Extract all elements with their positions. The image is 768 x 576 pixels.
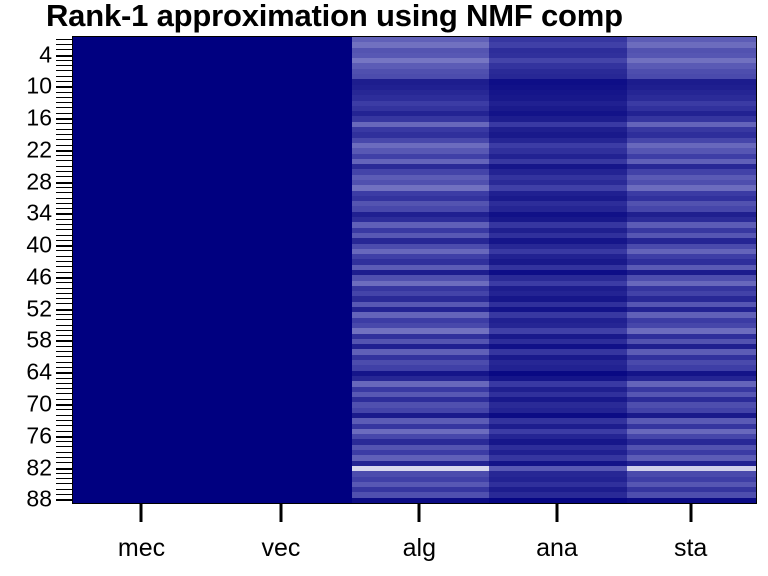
- y-axis-tick: [56, 335, 72, 336]
- chart-root: Rank-1 approximation using NMF comp 4101…: [0, 0, 768, 576]
- heatmap-cell: [352, 498, 489, 504]
- y-axis-label: 64: [26, 359, 52, 386]
- y-axis-tick: [56, 388, 72, 389]
- y-axis-label: 28: [26, 168, 52, 195]
- y-axis-tick: [56, 113, 72, 114]
- y-axis-tick: [56, 171, 72, 172]
- y-axis-label: 46: [26, 263, 52, 290]
- y-axis-tick: [56, 81, 72, 82]
- y-axis-tick: [56, 330, 72, 331]
- y-axis-tick: [56, 139, 72, 140]
- y-axis-tick: [56, 293, 72, 294]
- y-axis-tick: [56, 70, 72, 71]
- y-axis-tick: [56, 309, 72, 311]
- x-axis-tick: [689, 504, 692, 522]
- y-axis-tick: [56, 235, 72, 236]
- y-axis-labels: 41016222834404652586470768288: [0, 36, 54, 504]
- y-axis-tick: [56, 367, 72, 368]
- heatmap-cell: [212, 498, 352, 504]
- y-axis-tick: [56, 150, 72, 152]
- heatmap-plot-area: [72, 36, 757, 504]
- y-axis-tick: [56, 256, 72, 257]
- y-axis-tick: [56, 39, 72, 40]
- y-axis-tick: [56, 97, 72, 98]
- y-axis-label: 34: [26, 200, 52, 227]
- y-axis-tick: [56, 340, 72, 342]
- y-axis-tick: [56, 44, 72, 45]
- y-axis-tick: [56, 208, 72, 209]
- y-axis-tick: [56, 288, 72, 289]
- y-axis-label: 70: [26, 391, 52, 418]
- y-axis-tick: [56, 123, 72, 124]
- x-axis-label-ana: ana: [536, 534, 578, 563]
- y-axis-tick: [56, 277, 72, 279]
- y-axis-label: 22: [26, 136, 52, 163]
- y-axis-tick: [56, 102, 72, 103]
- y-axis-tick: [56, 468, 72, 470]
- heatmap-cell: [489, 498, 628, 504]
- y-axis-tick: [56, 245, 72, 247]
- y-axis-tick: [56, 420, 72, 421]
- y-axis-tick: [56, 160, 72, 161]
- y-axis-tick: [56, 272, 72, 273]
- y-axis-tick: [56, 213, 72, 215]
- y-axis-tick: [56, 261, 72, 262]
- y-axis-tick: [56, 192, 72, 193]
- y-axis-tick: [56, 325, 72, 326]
- y-axis-tick: [56, 92, 72, 93]
- y-axis-label: 4: [39, 41, 52, 68]
- x-axis-tick: [555, 504, 558, 522]
- heatmap-cell: [627, 498, 756, 504]
- y-axis-tick: [56, 436, 72, 438]
- y-axis-tick: [56, 229, 72, 230]
- y-axis-tick: [56, 393, 72, 394]
- y-axis-tick: [56, 198, 72, 199]
- y-axis-tick: [56, 187, 72, 188]
- y-axis-tick: [56, 446, 72, 447]
- y-axis-tick: [56, 404, 72, 406]
- y-axis-tick: [56, 346, 72, 347]
- y-axis-tick: [56, 362, 72, 363]
- y-axis-tick: [56, 457, 72, 458]
- y-axis-tick: [56, 166, 72, 167]
- y-axis-tick: [56, 415, 72, 416]
- y-axis-tick: [56, 314, 72, 315]
- y-axis-tick: [56, 65, 72, 66]
- y-axis-tick: [56, 441, 72, 442]
- y-axis-tick: [56, 483, 72, 484]
- y-axis-tick: [56, 55, 72, 57]
- y-axis-label: 58: [26, 327, 52, 354]
- y-axis-tick: [56, 176, 72, 177]
- y-axis-tick: [56, 351, 72, 352]
- y-axis-tick: [56, 462, 72, 463]
- y-axis-tick: [56, 494, 72, 495]
- x-axis-tick: [279, 504, 282, 522]
- y-axis-tick: [56, 203, 72, 204]
- y-axis-tick: [56, 298, 72, 299]
- y-axis-tick: [56, 49, 72, 50]
- y-axis-tick: [56, 431, 72, 432]
- y-axis-tick: [56, 107, 72, 108]
- x-axis-label-sta: sta: [674, 534, 707, 563]
- y-axis-label: 88: [26, 486, 52, 513]
- x-axis: mecvecalganasta: [72, 504, 757, 574]
- heatmap-rows: [73, 37, 756, 503]
- y-axis-tick: [56, 76, 72, 77]
- y-axis-tick: [56, 356, 72, 357]
- y-axis-tick: [56, 409, 72, 410]
- y-axis-tick: [56, 489, 72, 490]
- y-axis-tick: [56, 303, 72, 304]
- y-axis-tick: [56, 60, 72, 61]
- x-axis-tick: [418, 504, 421, 522]
- y-axis-tick: [56, 425, 72, 426]
- y-axis-label: 40: [26, 232, 52, 259]
- y-axis-tick: [56, 86, 72, 88]
- y-axis-label: 52: [26, 295, 52, 322]
- y-axis-tick: [56, 224, 72, 225]
- y-axis-tick: [56, 319, 72, 320]
- y-axis-tick: [56, 499, 72, 501]
- y-axis-tick: [56, 129, 72, 130]
- y-axis-tick: [56, 266, 72, 267]
- x-axis-tick: [140, 504, 143, 522]
- y-axis-tick: [56, 240, 72, 241]
- y-axis-tick: [56, 478, 72, 479]
- y-axis-tick: [56, 473, 72, 474]
- y-axis-label: 16: [26, 105, 52, 132]
- y-axis-label: 10: [26, 73, 52, 100]
- y-axis-tick: [56, 219, 72, 220]
- y-axis-tick: [56, 378, 72, 379]
- y-axis-tick: [56, 282, 72, 283]
- y-axis-label: 76: [26, 422, 52, 449]
- y-axis-tick: [56, 182, 72, 184]
- y-axis-tick: [56, 452, 72, 453]
- y-axis-tick: [56, 134, 72, 135]
- heatmap-cell: [73, 498, 212, 504]
- chart-title: Rank-1 approximation using NMF comp: [46, 0, 768, 36]
- y-axis-tick: [56, 250, 72, 251]
- y-axis-ticks: [56, 36, 72, 504]
- y-axis-tick: [56, 383, 72, 384]
- y-axis-tick: [56, 372, 72, 374]
- y-axis-tick: [56, 399, 72, 400]
- y-axis-tick: [56, 145, 72, 146]
- x-axis-label-mec: mec: [118, 534, 165, 563]
- heatmap-row: [73, 498, 756, 504]
- x-axis-label-vec: vec: [262, 534, 301, 563]
- y-axis-label: 82: [26, 454, 52, 481]
- y-axis-tick: [56, 155, 72, 156]
- y-axis-tick: [56, 118, 72, 120]
- x-axis-label-alg: alg: [403, 534, 436, 563]
